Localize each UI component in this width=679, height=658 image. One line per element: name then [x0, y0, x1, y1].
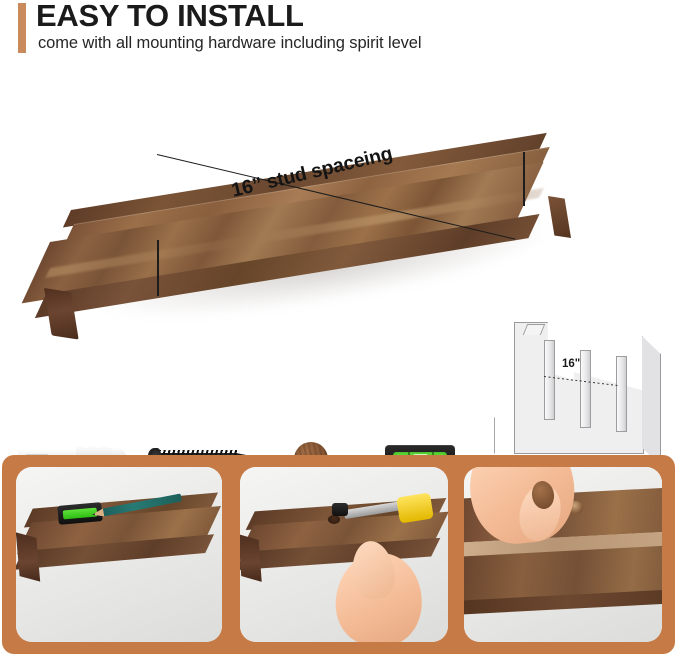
panel2-screwdriver-bit	[332, 503, 348, 516]
wall-side-face	[642, 336, 661, 466]
accent-bar-icon	[18, 3, 26, 53]
photo-panel-apply-sticker	[464, 467, 662, 642]
panel2-shelf-end	[240, 534, 262, 582]
panel1-shelf-end	[16, 532, 40, 581]
photo-panel-level-and-mark	[16, 467, 222, 642]
stud-dimension-label: 16"	[562, 358, 580, 370]
hero-product-illustration: 16” stud spaceing drywall anchors x5	[0, 62, 679, 450]
stud-3	[616, 356, 627, 432]
stud-2	[580, 350, 591, 428]
page-subtitle: come with all mounting hardware includin…	[38, 34, 421, 53]
page-title: EASY TO INSTALL	[36, 0, 304, 34]
dimension-tick-left	[157, 240, 159, 296]
header: EASY TO INSTALL come with all mounting h…	[0, 0, 679, 62]
photo-strip	[2, 455, 675, 654]
dimension-tick-right	[523, 152, 525, 206]
panel2-screw-hole	[328, 515, 340, 524]
photo-panel-drive-screw	[240, 467, 448, 642]
panel2-screwdriver-handle	[396, 493, 434, 524]
infographic-canvas: EASY TO INSTALL come with all mounting h…	[0, 0, 679, 658]
stud-1	[544, 340, 555, 420]
